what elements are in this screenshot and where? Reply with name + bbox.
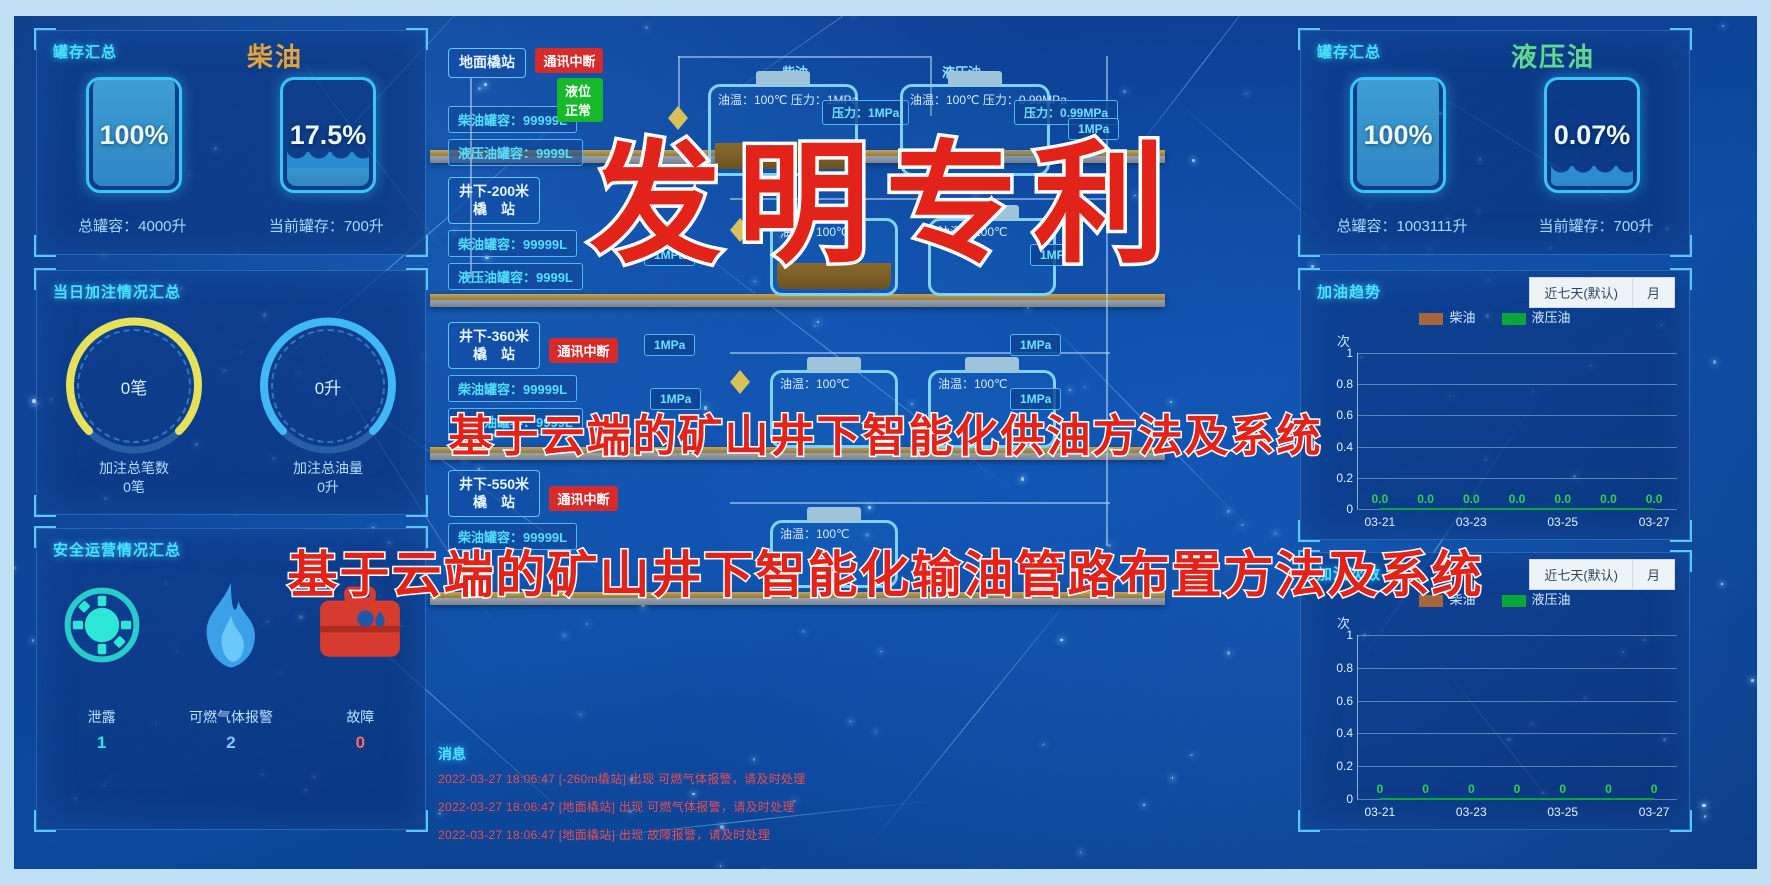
gear-leak-icon xyxy=(47,577,157,673)
pressure-tag-4: 1MPa xyxy=(644,334,695,356)
tank-percent-label: 100% xyxy=(1363,120,1432,151)
corner-decor xyxy=(406,268,428,290)
safety-value-fault: 0 xyxy=(305,733,415,753)
corner-decor xyxy=(1298,235,1320,257)
tank-wave xyxy=(287,152,369,168)
y-axis-tick: 0 xyxy=(1319,502,1353,516)
x-axis-tick: 03-23 xyxy=(1456,515,1487,529)
data-label: 0 xyxy=(1377,782,1384,796)
gridline xyxy=(1357,384,1677,385)
y-axis-tick: 0.8 xyxy=(1319,377,1353,391)
station-200m[interactable]: 井下-200米 橇 站 柴油罐容：99999L 液压油罐容：9999L xyxy=(448,177,583,290)
gauge-refuel-volume: 0升 xyxy=(253,311,403,461)
data-label: 0 xyxy=(1559,782,1566,796)
corner-decor xyxy=(1670,235,1692,257)
watermark-patent-main: 发明专利 xyxy=(590,98,1182,289)
message-item[interactable]: 2022-03-27 18:06:47 [地面橇站] 出现 故障报警，请及时处理 xyxy=(438,826,918,843)
tank-gauge-current: 17.5% xyxy=(280,77,376,193)
gauge-caption-count: 加注总笔数 0笔 xyxy=(99,459,169,497)
data-label: 0 xyxy=(1605,782,1612,796)
data-label: 0.0 xyxy=(1646,492,1663,506)
panel-title-hydraulic-storage: 罐存汇总 xyxy=(1317,41,1381,62)
data-label: 0.0 xyxy=(1600,492,1617,506)
tank-gauge-current: 0.07% xyxy=(1544,77,1640,193)
y-axis-tick: 0.4 xyxy=(1319,440,1353,454)
hydraulic-tank-captions: 总罐容：1003111升 当前罐存：700升 xyxy=(1301,215,1689,236)
x-axis-tick: 03-21 xyxy=(1364,515,1395,529)
series-液压油 xyxy=(1301,327,1689,539)
legend-label-diesel: 柴油 xyxy=(1449,310,1475,325)
station-name-360m: 井下-360米 橇 站 xyxy=(448,322,540,369)
tank-gauge-total: 100% xyxy=(1350,77,1446,193)
data-label: 0 xyxy=(1422,782,1429,796)
legend-label-hydraulic: 液压油 xyxy=(1532,592,1571,607)
tank-caption-total: 总罐容：4000升 xyxy=(78,215,186,236)
y-axis-tick: 0.6 xyxy=(1319,408,1353,422)
legend-swatch-hydraulic xyxy=(1502,595,1526,607)
pipe-horizontal xyxy=(730,502,1110,504)
range-button-month[interactable]: 月 xyxy=(1633,278,1674,307)
y-axis-tick: 0 xyxy=(1319,792,1353,806)
gridline xyxy=(1357,668,1677,669)
tank-readout-360m-b: 油温：100℃ xyxy=(938,376,1008,393)
panel-hydraulic-storage: 罐存汇总 液压油 100% 0.07% 总罐容：1003111升 当前罐存：70… xyxy=(1300,30,1690,255)
chart-plot-count: 次 00.20.40.60.81000000003-2103-2303-2503… xyxy=(1301,609,1689,829)
station-name-550m: 井下-550米 橇 站 xyxy=(448,470,540,517)
message-log: 消息 2022-03-27 18:06:47 [-260m橇站] 出现 可燃气体… xyxy=(438,744,918,854)
corner-decor xyxy=(406,495,428,517)
y-axis-tick: 0.2 xyxy=(1319,759,1353,773)
gauge-caption-count-title: 加注总笔数 xyxy=(99,459,169,478)
gridline xyxy=(1357,478,1677,479)
corner-decor xyxy=(34,235,56,257)
y-axis-tick: 0.8 xyxy=(1319,661,1353,675)
legend-label-hydraulic: 液压油 xyxy=(1532,310,1571,325)
panel-refuel-trend-chart: 加油趋势 近七天(默认) 月 柴油 液压油 次 00.20.40.60.810.… xyxy=(1300,270,1690,540)
diesel-tank-captions: 总罐容：4000升 当前罐存：700升 xyxy=(37,215,425,236)
tank-fill xyxy=(287,160,369,186)
safety-value-gas-alarm: 2 xyxy=(176,733,286,753)
gauge-refuel-count: 0笔 xyxy=(59,311,209,461)
diesel-tank-row: 100% 17.5% xyxy=(37,77,425,193)
station-capacity-hydraulic: 液压油罐容：9999L xyxy=(448,263,583,290)
station-badge-comm: 通讯中断 xyxy=(535,48,603,73)
data-label: 0.0 xyxy=(1509,492,1526,506)
gauge-caption-volume-value: 0升 xyxy=(293,478,363,497)
message-item[interactable]: 2022-03-27 18:06:47 [-260m橇站] 出现 可燃气体报警，… xyxy=(438,770,918,787)
gauge-captions: 加注总笔数 0笔 加注总油量 0升 xyxy=(37,459,425,497)
chart-legend-trend: 柴油 液压油 xyxy=(1301,307,1689,326)
gridline xyxy=(1357,447,1677,448)
series-柴油 xyxy=(1301,327,1689,539)
corner-decor xyxy=(1670,28,1692,50)
corner-decor xyxy=(34,810,56,832)
corner-decor xyxy=(34,495,56,517)
safety-label-leak: 泄露 xyxy=(47,707,157,727)
tank-readout-360m-a: 油温：100℃ xyxy=(780,376,850,393)
tank-percent-label: 17.5% xyxy=(290,120,367,151)
data-label: 0.0 xyxy=(1463,492,1480,506)
tank-lid xyxy=(948,71,1002,86)
panel-title-diesel-storage: 罐存汇总 xyxy=(53,41,117,62)
series-柴油 xyxy=(1301,609,1689,829)
gauge-caption-volume: 加注总油量 0升 xyxy=(293,459,363,497)
message-log-title: 消息 xyxy=(438,744,918,764)
tank-fill xyxy=(1551,176,1633,186)
tank-wave xyxy=(1551,166,1633,182)
gridline xyxy=(1357,701,1677,702)
safety-label-fault: 故障 xyxy=(305,707,415,727)
tank-caption-total: 总罐容：1003111升 xyxy=(1336,215,1467,236)
safety-value-leak: 1 xyxy=(47,733,157,753)
y-axis-line xyxy=(1357,635,1358,799)
chart-plot-trend: 次 00.20.40.60.810.00.00.00.00.00.00.003-… xyxy=(1301,327,1689,539)
legend-swatch-hydraulic xyxy=(1502,313,1526,325)
oil-type-diesel: 柴油 xyxy=(247,37,303,74)
panel-title-daily-refuel: 当日加注情况汇总 xyxy=(53,281,181,302)
range-selector-count[interactable]: 近七天(默认) 月 xyxy=(1529,559,1675,590)
x-axis-tick: 03-27 xyxy=(1639,515,1670,529)
tank-lid xyxy=(756,71,810,86)
gauge-caption-count-value: 0笔 xyxy=(99,478,169,497)
gauge-caption-volume-title: 加注总油量 xyxy=(293,459,363,478)
range-button-seven-days[interactable]: 近七天(默认) xyxy=(1530,560,1633,589)
station-capacity-diesel: 柴油罐容：99999L xyxy=(448,375,577,402)
corner-decor xyxy=(406,235,428,257)
y-axis-line xyxy=(1357,353,1358,509)
gridline xyxy=(1357,415,1677,416)
data-label: 0.0 xyxy=(1372,492,1389,506)
x-axis-tick: 03-27 xyxy=(1639,805,1670,819)
dashboard-screen: 罐存汇总 柴油 100% 17.5% 总罐容：4000升 当前罐存：700升 当… xyxy=(0,0,1771,885)
legend-item-hydraulic: 液压油 xyxy=(1502,589,1571,608)
station-name-surface: 地面橇站 xyxy=(448,48,526,78)
panel-daily-refuel-summary: 当日加注情况汇总 0笔 0升 加注总笔数 xyxy=(36,270,426,515)
data-label: 0 xyxy=(1651,782,1658,796)
gauge-row: 0笔 0升 xyxy=(37,311,425,461)
gridline xyxy=(1357,509,1677,510)
gridline xyxy=(1357,766,1677,767)
tank-percent-label: 0.07% xyxy=(1554,120,1631,151)
tank-lid xyxy=(965,357,1019,372)
station-badge-comm: 通讯中断 xyxy=(549,338,617,363)
y-axis-tick: 0.6 xyxy=(1319,694,1353,708)
safety-label-gas-alarm: 可燃气体报警 xyxy=(176,707,286,727)
gridline xyxy=(1357,799,1677,800)
legend-item-diesel: 柴油 xyxy=(1419,307,1475,326)
hydraulic-tank-row: 100% 0.07% xyxy=(1301,77,1689,193)
tank-gauge-total: 100% xyxy=(86,77,182,193)
range-button-seven-days[interactable]: 近七天(默认) xyxy=(1530,278,1633,307)
y-axis-tick: 1 xyxy=(1319,346,1353,360)
panel-title-refuel-trend: 加油趋势 xyxy=(1317,281,1381,302)
station-capacity-hydraulic: 液压油罐容：9999L xyxy=(448,139,583,166)
x-axis-tick: 03-23 xyxy=(1456,805,1487,819)
panel-diesel-storage: 罐存汇总 柴油 100% 17.5% 总罐容：4000升 当前罐存：700升 xyxy=(36,30,426,255)
tank-caption-current: 当前罐存：700升 xyxy=(269,215,384,236)
gridline xyxy=(1357,635,1677,636)
data-label: 0.0 xyxy=(1417,492,1434,506)
tank-lid xyxy=(807,357,861,372)
station-name-200m: 井下-200米 橇 站 xyxy=(448,177,540,224)
gauge-value-count: 0笔 xyxy=(59,311,209,461)
flame-gas-icon xyxy=(176,577,286,673)
safety-item-gas-alarm: 可燃气体报警 2 xyxy=(176,577,286,753)
panel-title-safety: 安全运营情况汇总 xyxy=(53,539,181,560)
pipe-vertical xyxy=(470,78,472,278)
data-label: 0.0 xyxy=(1554,492,1571,506)
range-button-month[interactable]: 月 xyxy=(1633,560,1674,589)
watermark-patent-title-2: 基于云端的矿山井下智能化输油管路布置方法及系统 xyxy=(288,535,1484,607)
y-axis-tick: 1 xyxy=(1319,628,1353,642)
legend-swatch-diesel xyxy=(1419,313,1443,325)
pressure-tag-6: 1MPa xyxy=(1010,334,1061,356)
tank-caption-current: 当前罐存：700升 xyxy=(1539,215,1654,236)
range-selector-trend[interactable]: 近七天(默认) 月 xyxy=(1529,277,1675,308)
y-axis-tick: 0.4 xyxy=(1319,726,1353,740)
x-axis-tick: 03-25 xyxy=(1547,805,1578,819)
pipe-horizontal xyxy=(678,56,930,58)
x-axis-tick: 03-25 xyxy=(1547,515,1578,529)
station-badge-comm: 通讯中断 xyxy=(549,486,617,511)
safety-item-leak: 泄露 1 xyxy=(47,577,157,753)
station-capacity-diesel: 柴油罐容：99999L xyxy=(448,230,577,257)
x-axis-tick: 03-21 xyxy=(1364,805,1395,819)
oil-type-hydraulic: 液压油 xyxy=(1511,37,1595,74)
corner-decor xyxy=(406,28,428,50)
data-label: 0 xyxy=(1468,782,1475,796)
y-axis-tick: 0.2 xyxy=(1319,471,1353,485)
message-item[interactable]: 2022-03-27 18:06:47 [地面橇站] 出现 可燃气体报警，请及时… xyxy=(438,798,918,815)
gridline xyxy=(1357,353,1677,354)
tank-lid xyxy=(807,507,861,522)
gridline xyxy=(1357,733,1677,734)
legend-item-hydraulic: 液压油 xyxy=(1502,307,1571,326)
tank-percent-label: 100% xyxy=(99,120,168,151)
gauge-value-volume: 0升 xyxy=(253,311,403,461)
corner-decor xyxy=(406,810,428,832)
data-label: 0 xyxy=(1514,782,1521,796)
watermark-patent-title-1: 基于云端的矿山井下智能化供油方法及系统 xyxy=(449,400,1323,464)
series-液压油 xyxy=(1301,609,1689,829)
